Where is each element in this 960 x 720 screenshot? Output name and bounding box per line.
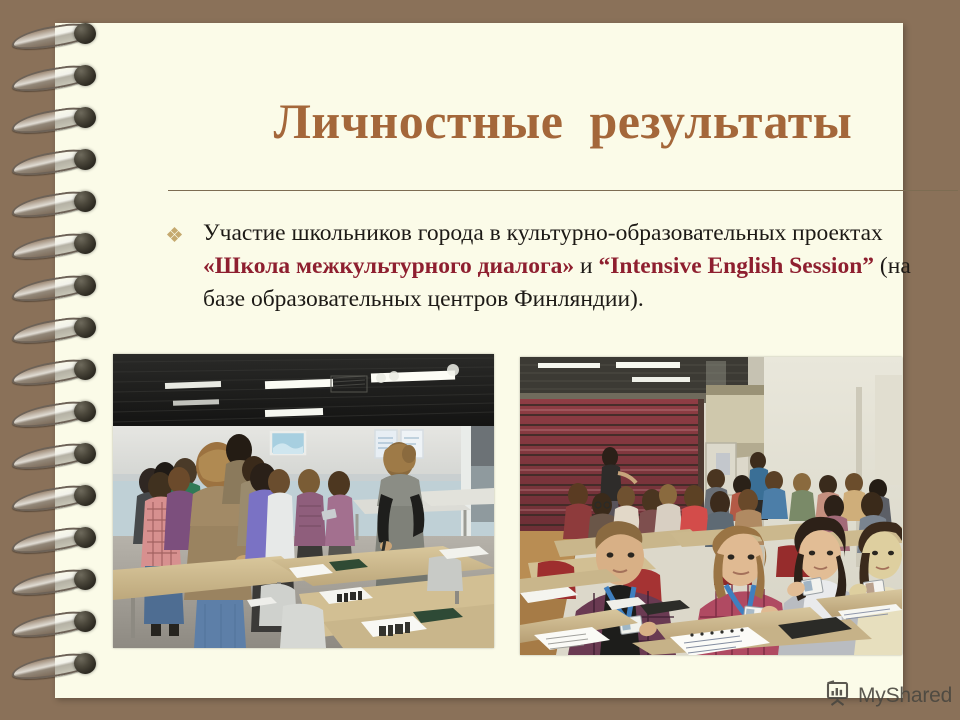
slide-root: Личностные результаты Участие школьников… [0,0,960,720]
bullet-item: Участие школьников города в культурно-об… [168,217,958,316]
watermark-label: MyShared [858,684,952,708]
presentation-board-icon [825,680,851,711]
bullet-text-part-1: Участие школьников города в культурно-об… [203,220,883,246]
four-diamond-bullet-icon [168,228,182,242]
body-block: Участие школьников города в культурно-об… [168,217,958,316]
photo-classroom-standing [113,354,494,648]
photo-lecture-hall-seated [520,357,902,655]
bullet-item-text: Участие школьников города в культурно-об… [203,217,958,316]
title-block: Личностные результаты [168,95,958,148]
project-name-ru: «Школа межкультурного диалога» [203,253,574,279]
project-name-en: “Intensive English Session” [598,253,874,279]
bullet-text-conjunction: и [574,253,598,279]
watermark: MyShared [825,680,952,711]
page-title: Личностные результаты [168,95,958,148]
title-divider [168,190,958,191]
